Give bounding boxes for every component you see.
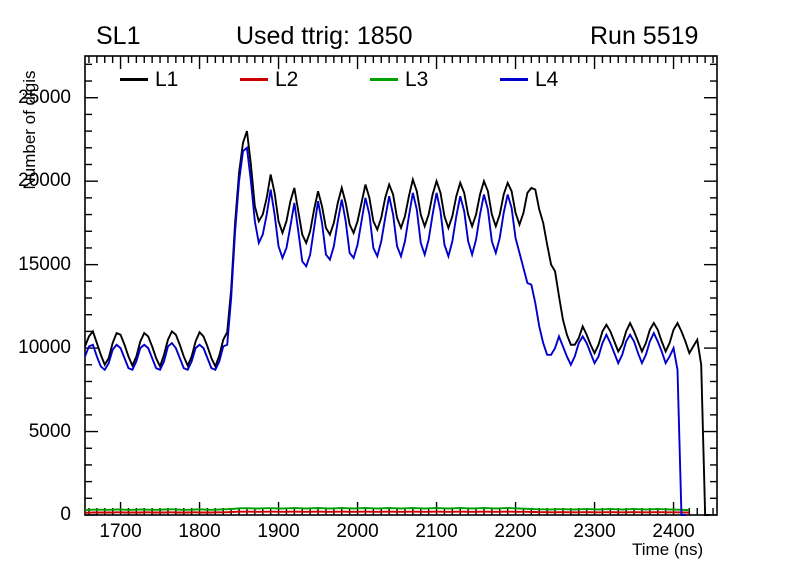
plot-frame xyxy=(85,56,717,515)
y-tick-label: 10000 xyxy=(1,337,80,359)
y-tick-label: 0 xyxy=(1,504,80,526)
legend-entry-l1[interactable]: L1 xyxy=(120,64,178,94)
x-tick-label: 2200 xyxy=(476,521,556,543)
y-tick-label: 5000 xyxy=(1,421,80,443)
chart-root: SL1 Used ttrig: 1850 Run 5519 Number of … xyxy=(0,0,796,572)
y-tick-label: 25000 xyxy=(1,87,80,109)
series-line-l4 xyxy=(85,148,685,515)
y-tick-label: 15000 xyxy=(1,254,80,276)
legend-label: L2 xyxy=(275,69,298,90)
legend-swatch-icon xyxy=(370,78,398,81)
x-tick-label: 2300 xyxy=(555,521,635,543)
legend-entry-l3[interactable]: L3 xyxy=(370,64,428,94)
legend-swatch-icon xyxy=(240,78,268,81)
series-line-l1 xyxy=(85,131,709,515)
legend-label: L4 xyxy=(535,69,558,90)
axis-ticks xyxy=(85,56,717,515)
legend-swatch-icon xyxy=(500,78,528,81)
x-tick-label: 1700 xyxy=(81,521,161,543)
legend-entry-l2[interactable]: L2 xyxy=(240,64,298,94)
legend-label: L3 xyxy=(405,69,428,90)
x-tick-label: 2400 xyxy=(634,521,714,543)
x-tick-label: 1800 xyxy=(160,521,240,543)
series-line-l2 xyxy=(85,512,689,513)
legend: L1L2L3L4 xyxy=(110,64,710,94)
y-tick-label: 20000 xyxy=(1,170,80,192)
x-tick-label: 1900 xyxy=(239,521,319,543)
x-tick-label: 2000 xyxy=(318,521,398,543)
legend-swatch-icon xyxy=(120,78,148,81)
legend-entry-l4[interactable]: L4 xyxy=(500,64,558,94)
legend-label: L1 xyxy=(155,69,178,90)
x-tick-label: 2100 xyxy=(397,521,477,543)
data-curves xyxy=(85,131,709,515)
